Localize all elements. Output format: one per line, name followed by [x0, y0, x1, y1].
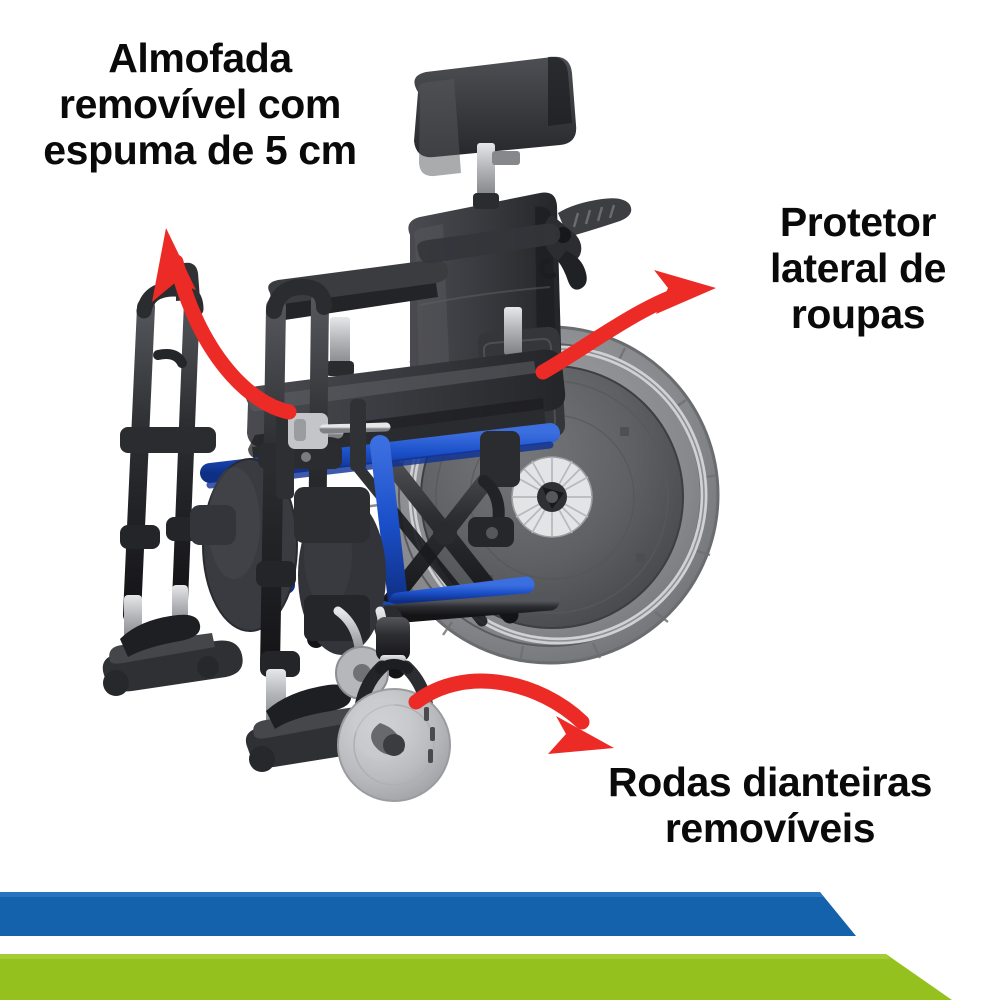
infographic-canvas: Almofada removível com espuma de 5 cm Pr… — [0, 0, 1000, 1000]
callout-label-cushion: Almofada removível com espuma de 5 cm — [0, 36, 400, 174]
bottom-banner — [0, 880, 1000, 1000]
banner-bar-blue — [0, 892, 856, 936]
callout-label-side-guard: Protetor lateral de roupas — [716, 200, 1000, 338]
headrest — [414, 57, 576, 209]
banner-bar-green — [0, 954, 952, 1000]
product-photo-wheelchair — [80, 55, 720, 855]
banner-bar-green-highlight — [0, 954, 890, 959]
callout-label-front-casters: Rodas dianteiras removíveis — [540, 760, 1000, 852]
banner-bar-blue-highlight — [0, 892, 824, 897]
